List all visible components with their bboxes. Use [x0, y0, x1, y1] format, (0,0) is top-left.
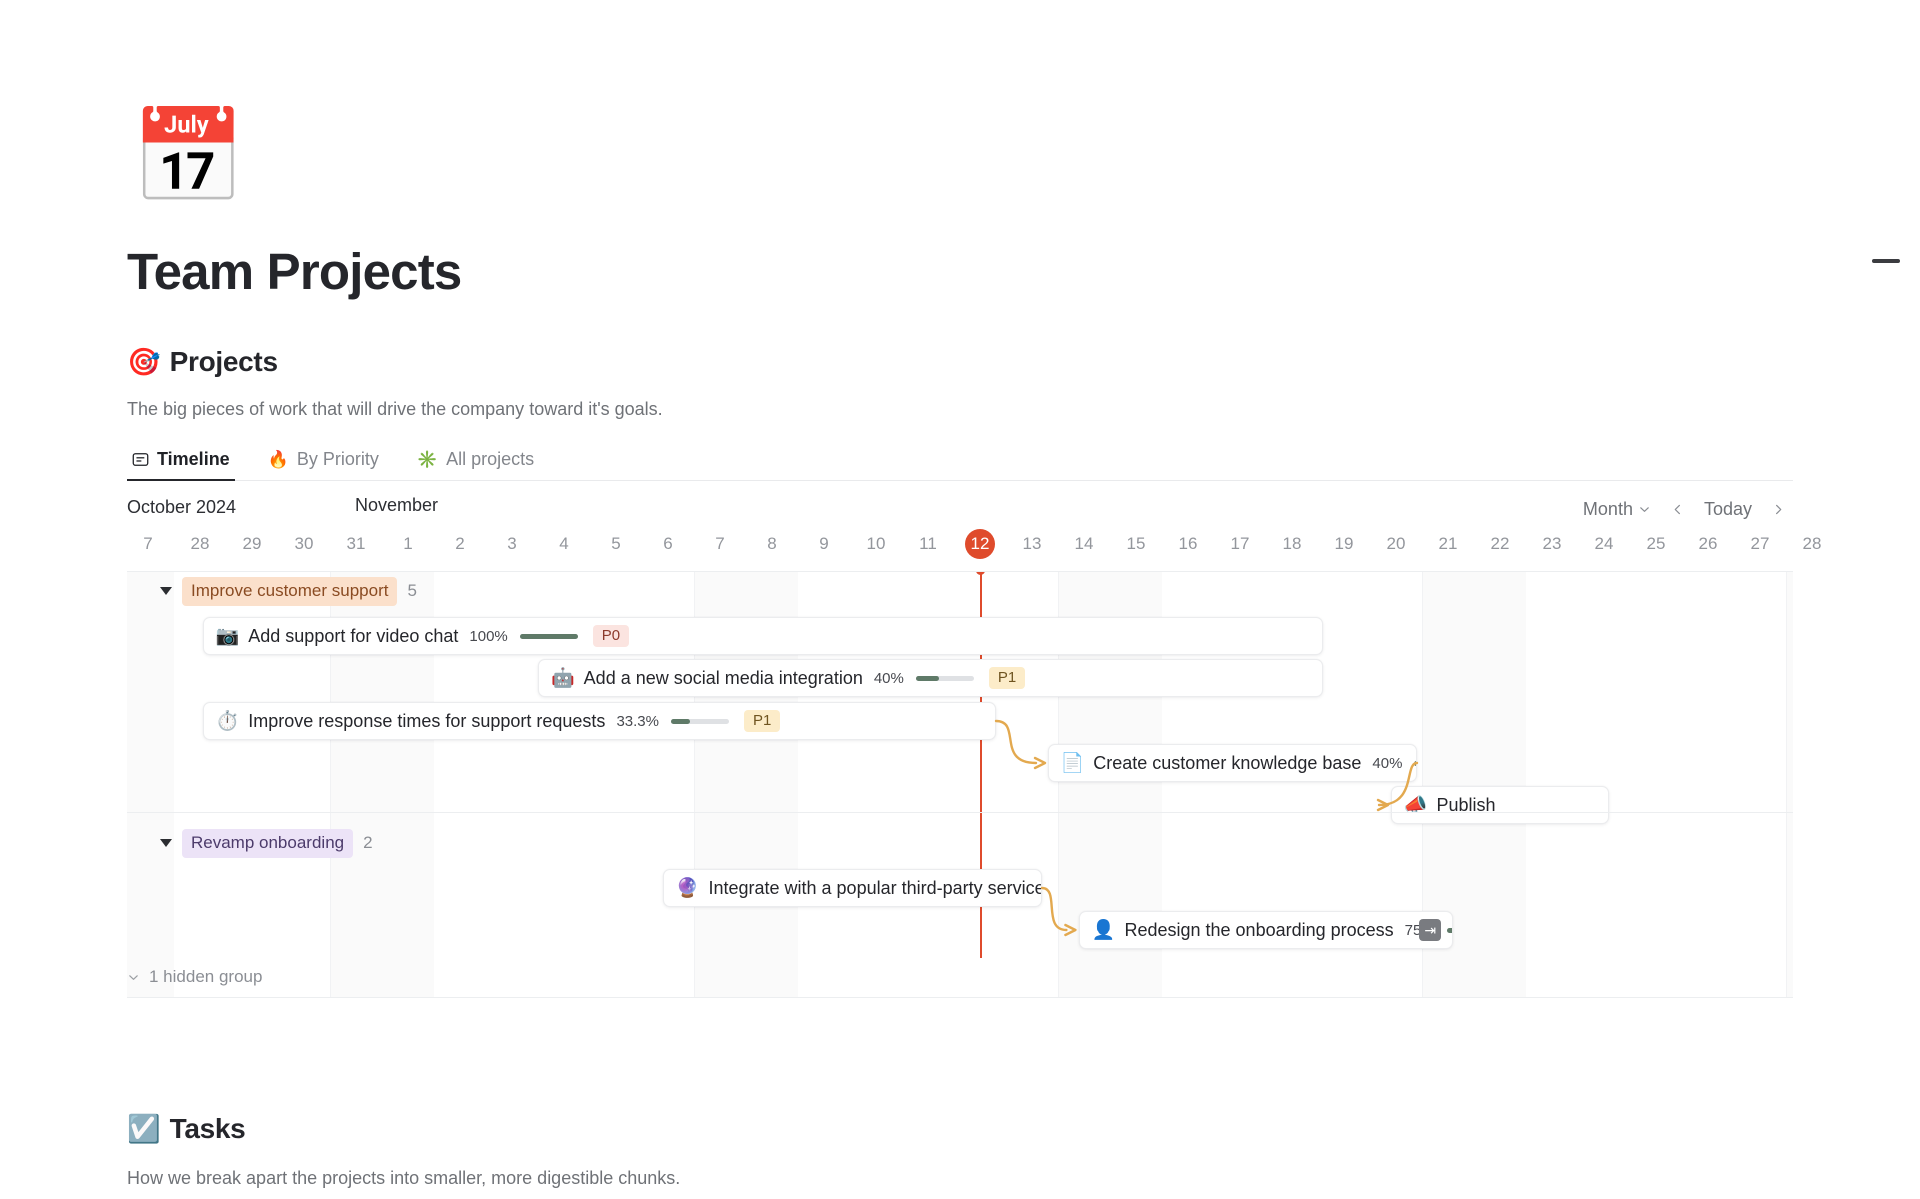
task-progress-fill: [1414, 761, 1416, 766]
asterisk-icon: ✳️: [417, 451, 438, 468]
timeline-task-bar[interactable]: 🤖Add a new social media integration40%P1: [538, 659, 1323, 697]
weekend-band: [127, 572, 174, 997]
chevron-down-icon: [1638, 503, 1651, 516]
day-tick: 18: [1271, 529, 1313, 559]
group-name-chip[interactable]: Revamp onboarding: [182, 829, 353, 858]
day-tick: 4: [543, 529, 585, 559]
group-count: 2: [363, 833, 372, 853]
page-title: Team Projects: [127, 242, 461, 301]
checkbox-icon: ☑️: [127, 1116, 161, 1143]
tasks-section-heading: ☑️ Tasks: [127, 1113, 245, 1145]
target-icon: 🎯: [127, 349, 161, 376]
notion-page: 📅 Team Projects 🎯 Projects The big piece…: [0, 0, 1920, 1199]
task-progress-fill: [520, 634, 578, 639]
day-tick: 27: [1739, 529, 1781, 559]
day-tick: 11: [907, 529, 949, 559]
page-icon[interactable]: 📅: [131, 105, 235, 209]
timeline-month-october: October 2024: [127, 497, 236, 518]
task-label: Integrate with a popular third-party ser…: [708, 878, 1042, 899]
timeline-zoom-select[interactable]: Month: [1575, 495, 1659, 524]
day-tick: 7: [127, 529, 169, 559]
weekend-band: [1786, 572, 1793, 997]
task-progress-bar: [1447, 928, 1454, 933]
day-tick: 15: [1115, 529, 1157, 559]
task-label: Add support for video chat: [248, 626, 458, 647]
day-tick: 7: [699, 529, 741, 559]
hidden-group-label: 1 hidden group: [149, 967, 262, 987]
group-name-chip[interactable]: Improve customer support: [182, 577, 397, 606]
timeline-group-row: Improve customer support5: [160, 577, 417, 605]
timeline-grid[interactable]: 1 hidden group Improve customer support5…: [127, 571, 1793, 998]
timeline-task-bar[interactable]: 📄Create customer knowledge base40%P1: [1048, 744, 1417, 782]
task-progress-fill: [916, 676, 939, 681]
timeline-zoom-label: Month: [1583, 499, 1633, 520]
timeline-icon: [132, 451, 149, 468]
task-label: Redesign the onboarding process: [1124, 920, 1393, 941]
timeline-task-bar[interactable]: 🔮Integrate with a popular third-party se…: [663, 869, 1043, 907]
day-tick: 2: [439, 529, 481, 559]
tab-by-priority[interactable]: 🔥 By Priority: [263, 449, 384, 480]
day-tick: 5: [595, 529, 637, 559]
task-emoji-icon: 👤: [1092, 921, 1116, 940]
day-tick: 17: [1219, 529, 1261, 559]
group-separator: [127, 812, 1793, 813]
day-tick: 16: [1167, 529, 1209, 559]
task-progress-percent: 100%: [469, 628, 507, 645]
tab-all-projects[interactable]: ✳️ All projects: [412, 449, 539, 480]
timeline-task-bar[interactable]: 👤Redesign the onboarding process75%: [1079, 911, 1453, 949]
day-tick: 8: [751, 529, 793, 559]
tasks-section-subtitle: How we break apart the projects into sma…: [127, 1168, 680, 1189]
caret-down-icon[interactable]: [160, 587, 172, 595]
day-tick: 30: [283, 529, 325, 559]
day-tick: 20: [1375, 529, 1417, 559]
timeline-month-november: November: [355, 495, 438, 516]
day-tick: 1: [387, 529, 429, 559]
tab-timeline-label: Timeline: [157, 449, 230, 470]
view-tabs: Timeline 🔥 By Priority ✳️ All projects: [127, 438, 1793, 481]
task-priority-badge: P1: [744, 710, 780, 732]
projects-section-heading: 🎯 Projects: [127, 346, 278, 378]
chevron-down-icon: [127, 971, 140, 984]
task-progress-bar: [520, 634, 578, 639]
tab-all-projects-label: All projects: [446, 449, 534, 470]
day-tick: 28: [179, 529, 221, 559]
day-tick: 14: [1063, 529, 1105, 559]
task-progress-bar: [916, 676, 974, 681]
chevron-left-icon: [1671, 503, 1684, 516]
tasks-section-title: Tasks: [170, 1113, 246, 1145]
task-emoji-icon: ⏱️: [216, 712, 240, 731]
column-separator: [1786, 572, 1787, 997]
task-progress-percent: 40%: [1372, 755, 1402, 772]
day-tick: 22: [1479, 529, 1521, 559]
timeline-next-button[interactable]: [1764, 499, 1793, 520]
day-tick: 23: [1531, 529, 1573, 559]
task-emoji-icon: 📷: [216, 627, 240, 646]
timeline-group-row: Revamp onboarding2: [160, 829, 373, 857]
timeline-today-label: Today: [1704, 499, 1752, 520]
task-priority-badge: P0: [593, 625, 629, 647]
day-tick-today: 12: [959, 529, 1001, 559]
timeline-task-bar[interactable]: ⏱️Improve response times for support req…: [203, 702, 996, 740]
tab-timeline[interactable]: Timeline: [127, 449, 235, 480]
caret-down-icon[interactable]: [160, 839, 172, 847]
hidden-group-toggle[interactable]: 1 hidden group: [127, 967, 262, 987]
task-progress-bar: [671, 719, 729, 724]
day-tick: 24: [1583, 529, 1625, 559]
day-tick: 10: [855, 529, 897, 559]
day-tick: 19: [1323, 529, 1365, 559]
today-pill: 12: [965, 529, 995, 559]
day-tick: 28: [1791, 529, 1833, 559]
task-emoji-icon: 📄: [1061, 754, 1085, 773]
projects-section-subtitle: The big pieces of work that will drive t…: [127, 399, 663, 420]
timeline-today-button[interactable]: Today: [1696, 495, 1760, 524]
day-tick: 13: [1011, 529, 1053, 559]
day-tick: 29: [231, 529, 273, 559]
task-progress-percent: 33.3%: [616, 713, 659, 730]
minimize-handle[interactable]: [1872, 259, 1900, 263]
timeline-prev-button[interactable]: [1663, 499, 1692, 520]
task-progress-fill: [1447, 928, 1454, 933]
fire-icon: 🔥: [268, 451, 289, 468]
tab-by-priority-label: By Priority: [297, 449, 379, 470]
today-marker-dot: [976, 571, 985, 575]
group-count: 5: [407, 581, 416, 601]
projects-section-title: Projects: [170, 346, 278, 378]
day-tick: 21: [1427, 529, 1469, 559]
day-tick: 26: [1687, 529, 1729, 559]
task-priority-badge: P1: [989, 667, 1025, 689]
timeline-day-ruler: 7282930311234567891011121314151617181920…: [127, 529, 1793, 571]
task-progress-fill: [671, 719, 690, 724]
chevron-right-icon: [1772, 503, 1785, 516]
timeline-task-bar[interactable]: 📷Add support for video chat100%P0: [203, 617, 1324, 655]
task-emoji-icon: 🔮: [676, 879, 700, 898]
task-progress-bar: [1414, 761, 1416, 766]
day-tick: 25: [1635, 529, 1677, 559]
day-tick: 3: [491, 529, 533, 559]
timeline-toolbar: Month Today: [1575, 495, 1793, 524]
day-tick: 6: [647, 529, 689, 559]
day-tick: 9: [803, 529, 845, 559]
task-progress-percent: 40%: [874, 670, 904, 687]
drag-resize-cursor[interactable]: ⇥: [1419, 919, 1441, 941]
timeline-task-bar[interactable]: 📣Publish: [1391, 786, 1609, 824]
day-tick: 31: [335, 529, 377, 559]
task-emoji-icon: 🤖: [551, 669, 575, 688]
task-label: Improve response times for support reque…: [248, 711, 605, 732]
task-label: Add a new social media integration: [584, 668, 863, 689]
task-label: Create customer knowledge base: [1093, 753, 1361, 774]
